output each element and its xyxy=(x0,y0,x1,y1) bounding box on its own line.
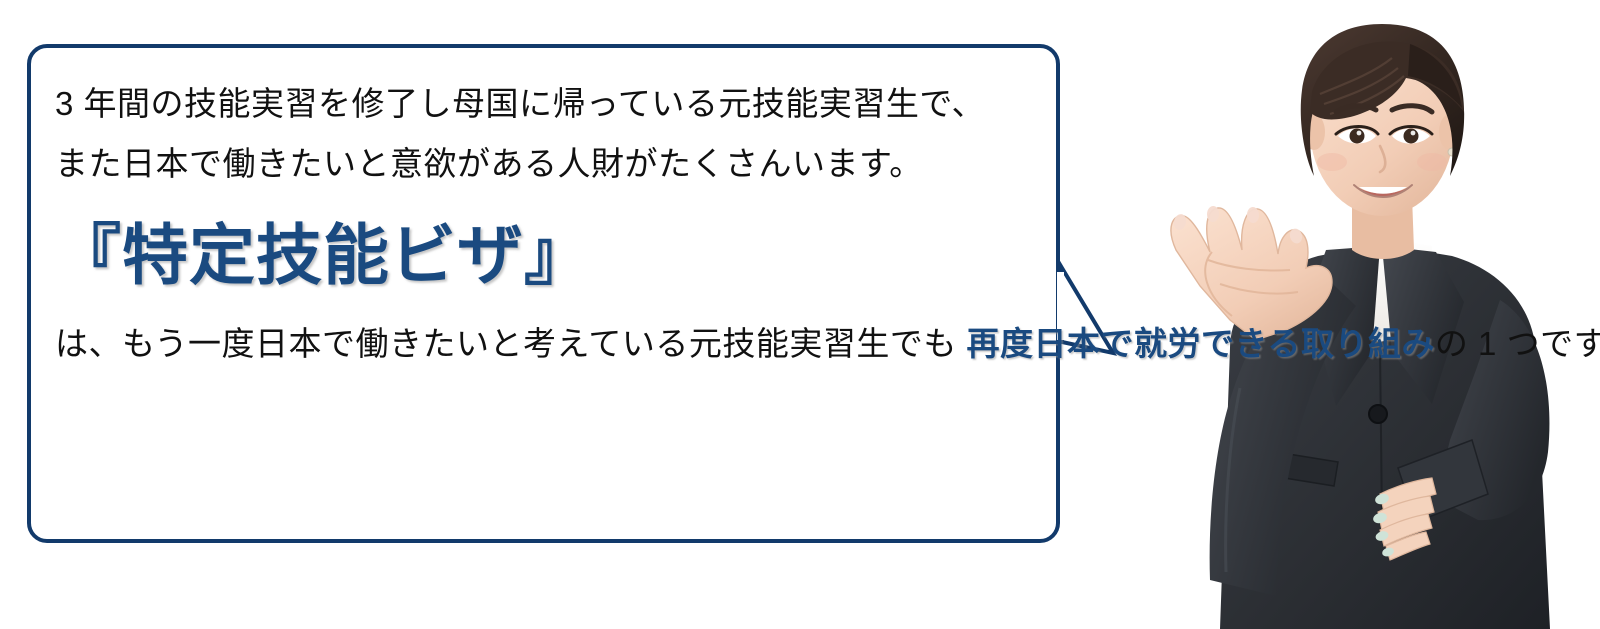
bubble-text-content: 3 年間の技能実習を修了し母国に帰っている元技能実習生で、 また日本で働きたいと… xyxy=(55,74,1015,374)
intro-line-1: 3 年間の技能実習を修了し母国に帰っている元技能実習生で、 xyxy=(55,74,1015,134)
closing-line-2: 再度日本で就労できる取り組みの 1 つです。 xyxy=(967,325,1600,362)
intro-paragraph: 3 年間の技能実習を修了し母国に帰っている元技能実習生で、 また日本で働きたいと… xyxy=(55,74,1015,194)
closing-rest: の 1 つです。 xyxy=(1435,325,1600,362)
poster-canvas: 3 年間の技能実習を修了し母国に帰っている元技能実習生で、 また日本で働きたいと… xyxy=(0,0,1600,629)
closing-highlight: 再度日本で就労できる取り組み xyxy=(967,325,1435,362)
presenter-illustration xyxy=(1080,0,1600,629)
intro-line-2: また日本で働きたいと意欲がある人財がたくさんいます。 xyxy=(55,134,1015,194)
headline-visa-title: 『特定技能ビザ』 xyxy=(55,206,1015,304)
closing-paragraph: は、もう一度日本で働きたいと考えている元技能実習生でも 再度日本で就労できる取り… xyxy=(55,314,1015,374)
closing-line-1: は、もう一度日本で働きたいと考えている元技能実習生でも xyxy=(55,325,957,362)
presenter-photo xyxy=(1080,0,1600,629)
